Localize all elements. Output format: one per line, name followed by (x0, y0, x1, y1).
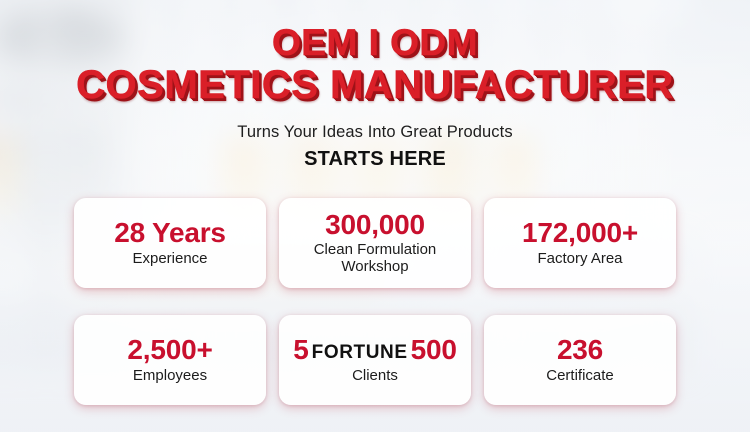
subheadline-line-2: STARTS HERE (0, 148, 750, 171)
stat-card-workshop: 300,000 Clean Formulation Workshop (279, 198, 471, 288)
stats-grid: 28 Years Experience 300,000 Clean Formul… (74, 198, 676, 405)
headline-line-2: COSMETICS MANUFACTURER (0, 65, 750, 105)
promo-banner: OEM I ODM COSMETICS MANUFACTURER Turns Y… (0, 0, 750, 432)
stat-card-fortune-clients: 5FORTUNE500 Clients (279, 315, 471, 405)
stat-number: 172,000+ (522, 218, 638, 247)
stat-label: Clients (352, 367, 398, 385)
banner-content: OEM I ODM COSMETICS MANUFACTURER Turns Y… (0, 0, 750, 432)
stat-card-experience: 28 Years Experience (74, 198, 266, 288)
stat-number: 28 Years (114, 218, 226, 247)
stat-label: Factory Area (537, 250, 622, 268)
headline: OEM I ODM COSMETICS MANUFACTURER (0, 0, 750, 105)
stat-number-prefix: 5 (293, 334, 308, 365)
stat-label: Clean Formulation Workshop (285, 241, 465, 276)
stat-number: 2,500+ (127, 335, 212, 364)
stat-card-certificate: 236 Certificate (484, 315, 676, 405)
subheadline-line-1: Turns Your Ideas Into Great Products (0, 123, 750, 142)
stat-number-composite: 5FORTUNE500 (293, 335, 457, 364)
stat-label: Certificate (546, 367, 614, 385)
stat-card-employees: 2,500+ Employees (74, 315, 266, 405)
stat-number-suffix: 500 (411, 334, 457, 365)
stat-card-factory-area: 172,000+ Factory Area (484, 198, 676, 288)
stat-label: Employees (133, 367, 207, 385)
stat-label: Experience (132, 250, 207, 268)
stat-number: 236 (557, 335, 603, 364)
stat-number-middle: FORTUNE (309, 342, 411, 363)
stat-number: 300,000 (325, 210, 425, 239)
headline-line-1: OEM I ODM (0, 24, 750, 61)
